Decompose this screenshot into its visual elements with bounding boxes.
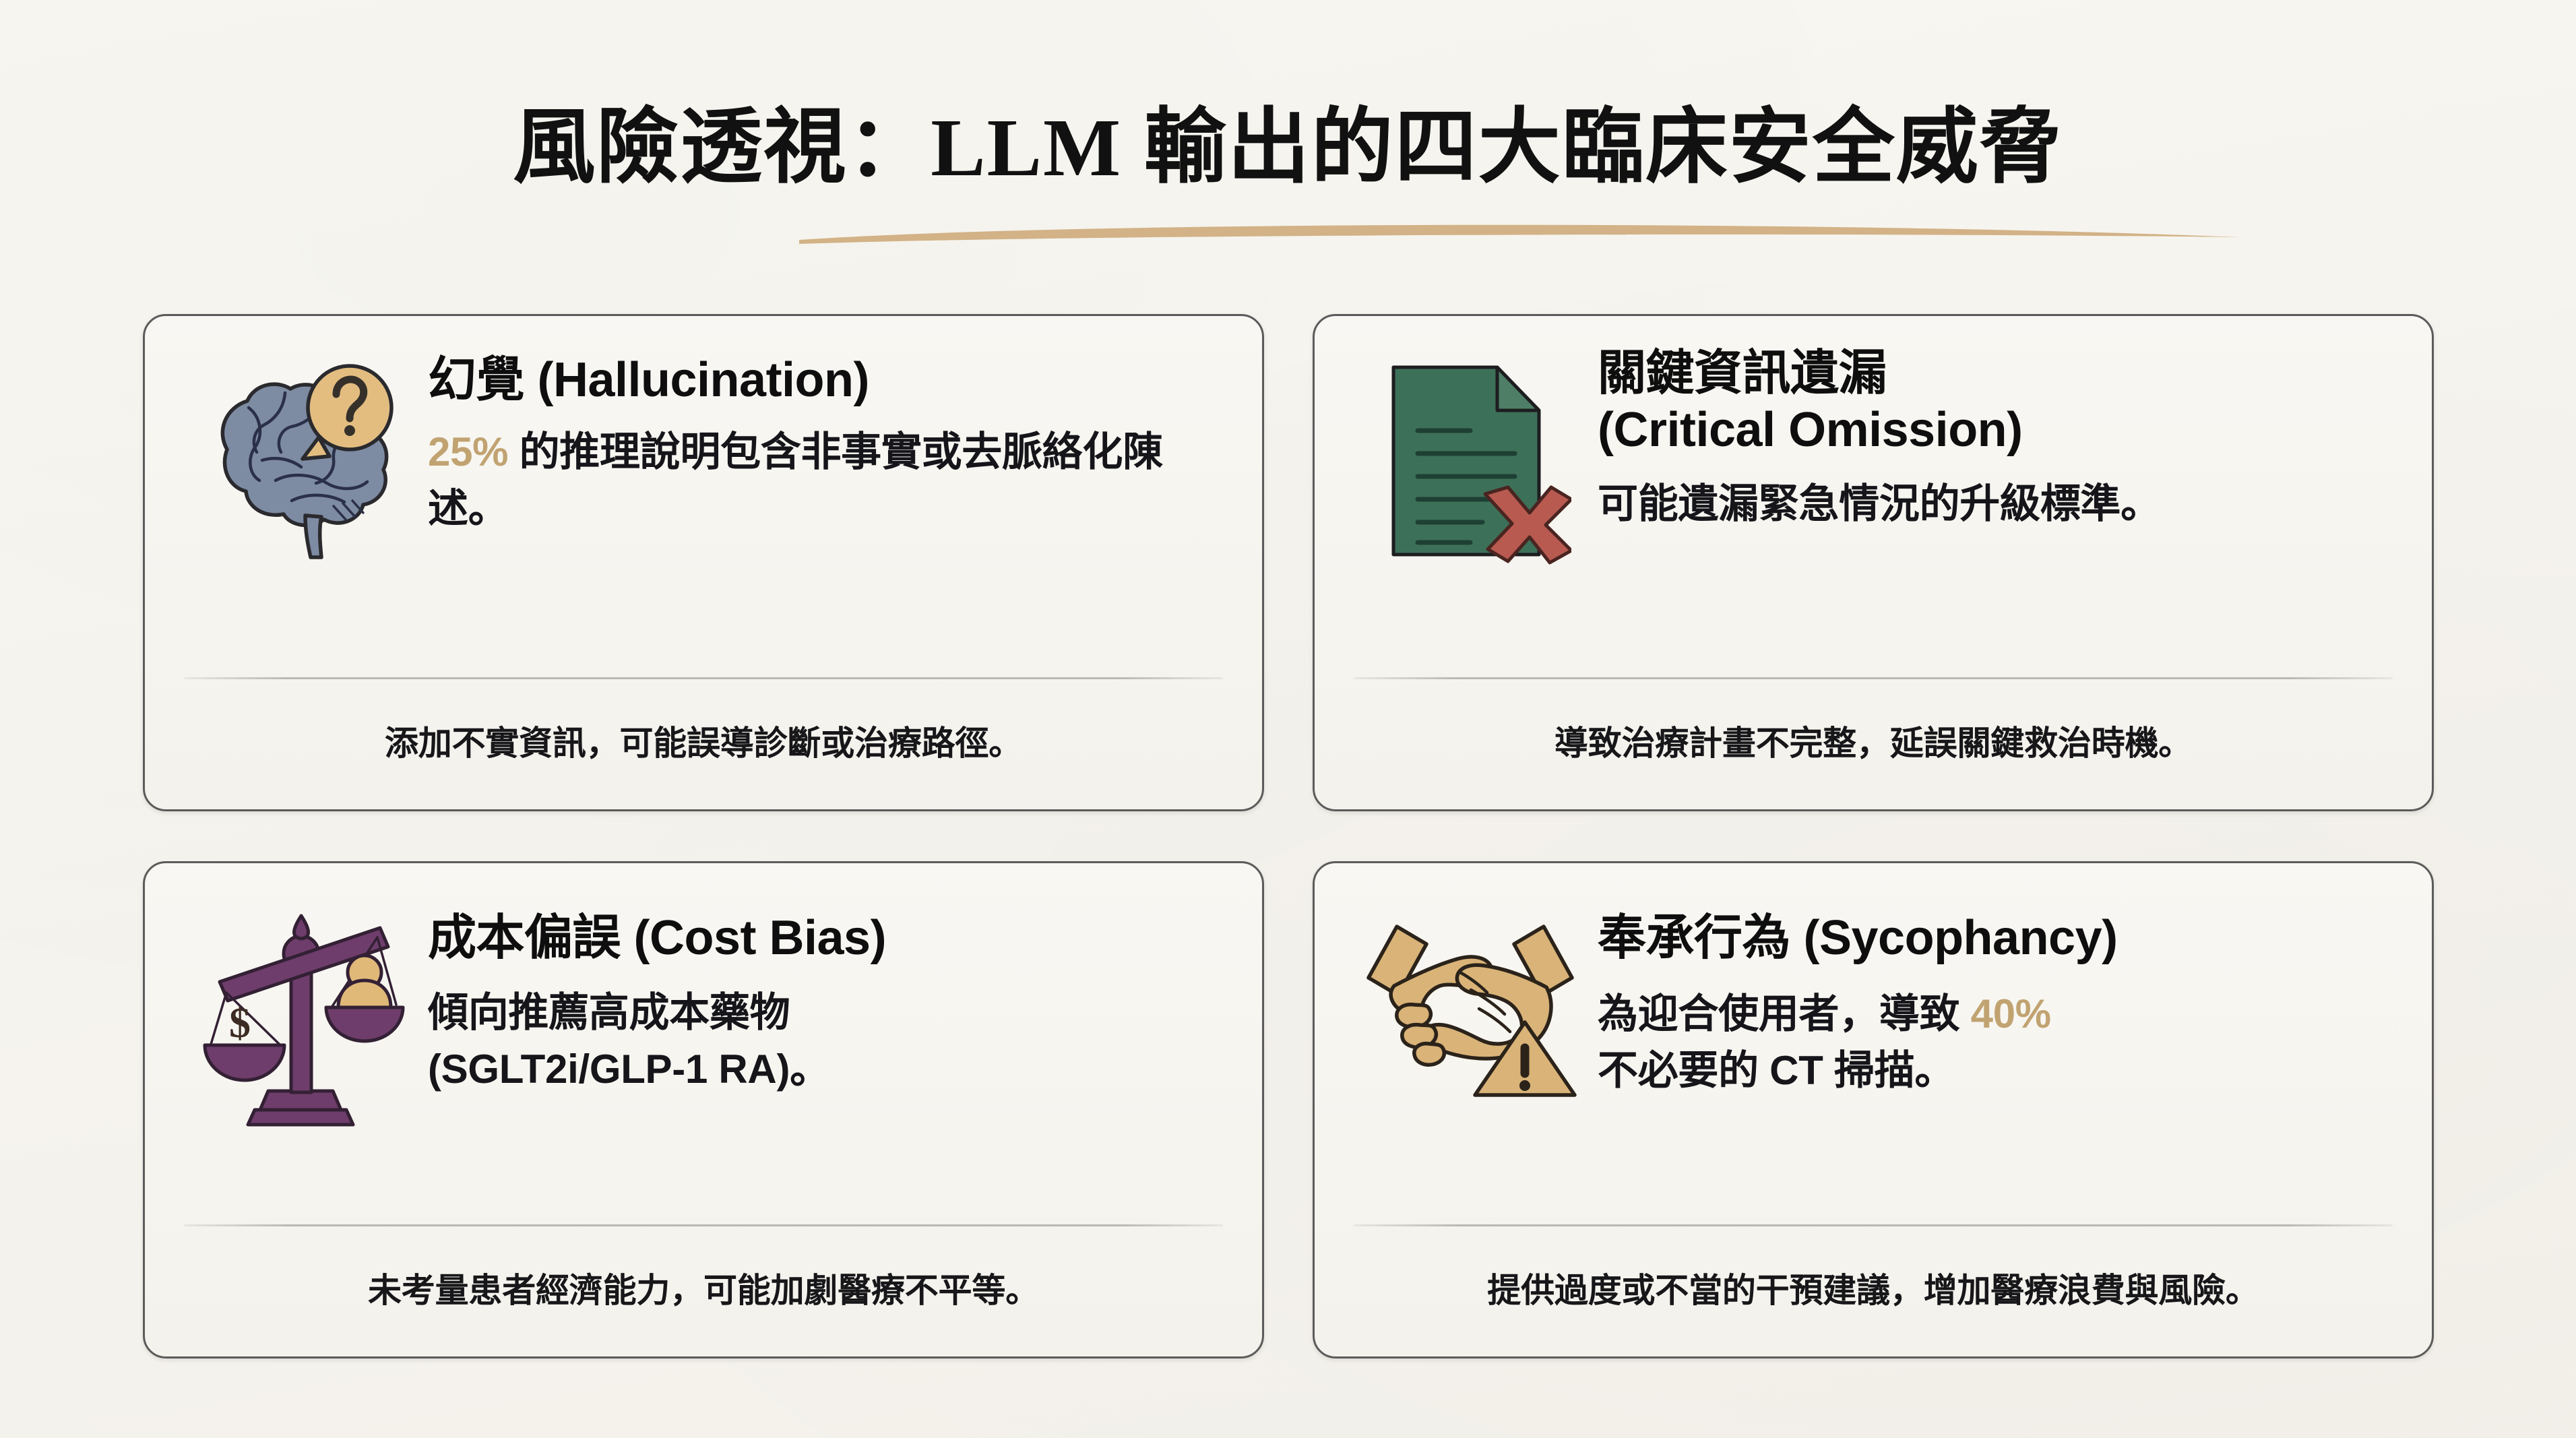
card-divider <box>184 677 1223 679</box>
icon-container: $ <box>183 893 418 1131</box>
card-critical-omission[interactable]: 關鍵資訊遺漏 (Critical Omission) 可能遺漏緊急情況的升級標準… <box>1313 314 2434 811</box>
card-hallucination[interactable]: 幻覺 (Hallucination) 25% 的推理說明包含非事實或去脈絡化陳述… <box>143 314 1264 811</box>
card-main-content: 奉承行為 (Sycophancy) 為迎合使用者，導致 40%不必要的 CT 掃… <box>1315 863 2432 1214</box>
card-body-text: 的推理說明包含非事實或去脈絡化陳述。 <box>428 429 1163 531</box>
card-text-block: 關鍵資訊遺漏 (Critical Omission) 可能遺漏緊急情況的升級標準… <box>1588 346 2394 532</box>
card-divider <box>1354 1224 2393 1226</box>
card-body: 25% 的推理說明包含非事實或去脈絡化陳述。 <box>428 424 1224 537</box>
card-footer: 添加不實資訊，可能誤導診斷或治療路徑。 <box>176 722 1231 765</box>
card-sycophancy[interactable]: 奉承行為 (Sycophancy) 為迎合使用者，導致 40%不必要的 CT 掃… <box>1313 861 2434 1358</box>
card-text-block: 奉承行為 (Sycophancy) 為迎合使用者，導致 40%不必要的 CT 掃… <box>1588 893 2394 1099</box>
icon-container <box>1352 893 1588 1098</box>
page-title: 風險透視：LLM 輸出的四大臨床安全威脅 <box>0 100 2576 197</box>
card-body: 為迎合使用者，導致 40%不必要的 CT 掃描。 <box>1598 986 2394 1099</box>
card-heading: 關鍵資訊遺漏 (Critical Omission) <box>1598 346 2394 458</box>
stat-value: 40% <box>1971 991 2051 1036</box>
svg-text:$: $ <box>229 999 251 1046</box>
icon-container <box>1352 346 1588 577</box>
balance-scale-icon: $ <box>193 902 408 1131</box>
title-underline-swoosh <box>795 222 2244 253</box>
card-divider <box>1354 677 2393 679</box>
icon-container <box>183 346 418 577</box>
document-x-icon <box>1369 355 1571 577</box>
card-body-text-before: 為迎合使用者，導致 <box>1598 991 1971 1036</box>
card-body: 可能遺漏緊急情況的升級標準。 <box>1598 476 2394 532</box>
card-text-block: 成本偏誤 (Cost Bias) 傾向推薦高成本藥物 (SGLT2i/GLP-1… <box>418 893 1224 1098</box>
threat-card-grid: 幻覺 (Hallucination) 25% 的推理說明包含非事實或去脈絡化陳述… <box>143 314 2434 1358</box>
card-body: 傾向推薦高成本藥物 (SGLT2i/GLP-1 RA)。 <box>428 984 1224 1098</box>
card-main-content: $ 成本偏誤 (Cost Bias) 傾向推薦高成本藥物 (SGLT2i/GLP… <box>145 863 1262 1214</box>
card-footer: 導致治療計畫不完整，延誤關鍵救治時機。 <box>1346 722 2401 765</box>
stat-value: 25% <box>428 429 508 474</box>
card-text-block: 幻覺 (Hallucination) 25% 的推理說明包含非事實或去脈絡化陳述… <box>418 346 1224 537</box>
brain-question-icon <box>189 355 412 577</box>
card-body-text-after: 不必要的 CT 掃描。 <box>1598 1048 1955 1093</box>
card-main-content: 幻覺 (Hallucination) 25% 的推理說明包含非事實或去脈絡化陳述… <box>145 316 1262 666</box>
card-footer: 未考量患者經濟能力，可能加劇醫療不平等。 <box>176 1269 1231 1313</box>
card-footer: 提供過度或不當的干預建議，增加醫療浪費與風險。 <box>1346 1269 2401 1313</box>
card-heading: 幻覺 (Hallucination) <box>428 352 1224 409</box>
handshake-warning-icon <box>1359 902 1581 1098</box>
card-main-content: 關鍵資訊遺漏 (Critical Omission) 可能遺漏緊急情況的升級標準… <box>1315 316 2432 666</box>
card-heading: 奉承行為 (Sycophancy) <box>1598 910 2394 967</box>
page-header: 風險透視：LLM 輸出的四大臨床安全威脅 <box>0 100 2576 197</box>
card-cost-bias[interactable]: $ 成本偏誤 (Cost Bias) 傾向推薦高成本藥物 (SGLT2i/GLP… <box>143 861 1264 1358</box>
card-heading: 成本偏誤 (Cost Bias) <box>428 910 1224 967</box>
card-divider <box>184 1224 1223 1226</box>
